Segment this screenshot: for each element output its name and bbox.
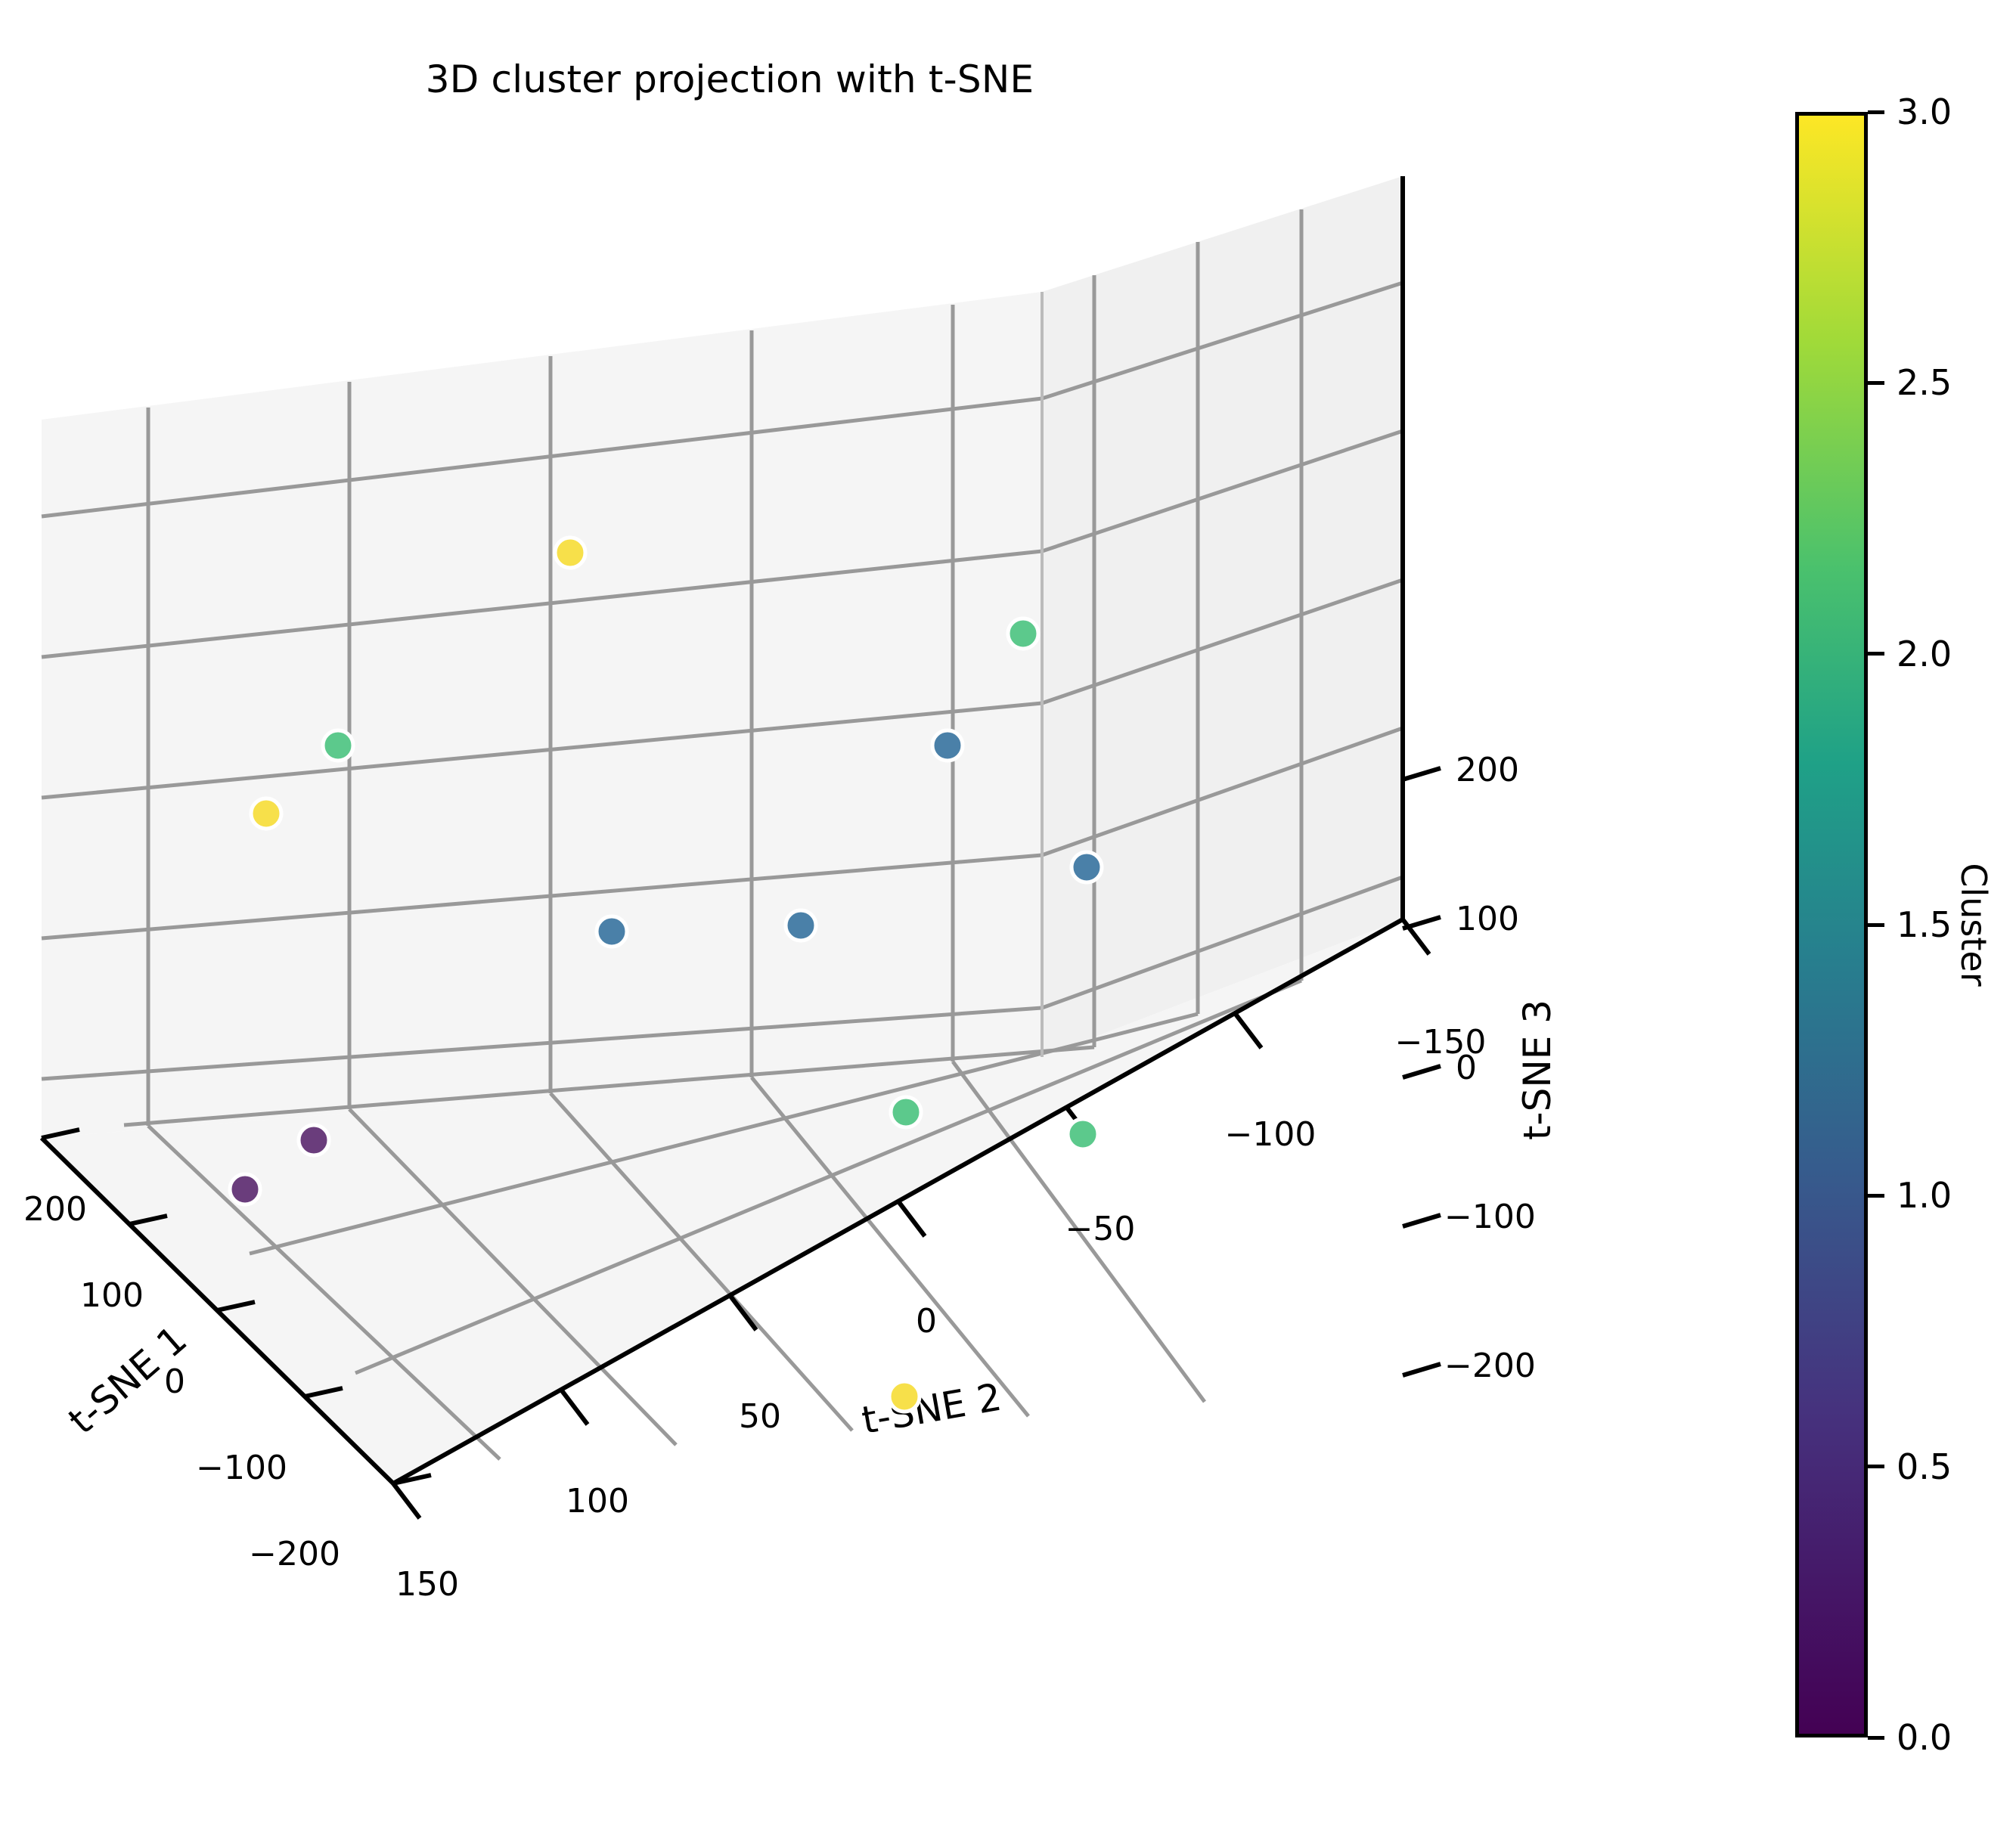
ytick-label: 0 [916,1302,937,1341]
scatter-point [555,538,585,568]
ztick-label: 0 [1456,1049,1477,1087]
colorbar-tick [1868,1194,1884,1198]
scatter-point [597,916,627,947]
colorbar-tick-label: 2.5 [1897,362,1952,403]
pane-back-right [1042,176,1403,1057]
scatter-point [251,798,281,829]
axis-label-z: t-SNE 3 [1515,1000,1559,1140]
colorbar-tick [1868,923,1884,927]
colorbar-tick [1868,1736,1884,1740]
xtick-label: −100 [196,1449,287,1487]
ztick-label: 200 [1456,751,1519,789]
pane-back-left [42,292,1042,1138]
ztick-label: −200 [1444,1347,1536,1385]
ytick-label: −100 [1225,1115,1317,1154]
ztick-label: 100 [1456,900,1519,938]
axis-label-y: t-SNE 2 [858,1375,1004,1443]
axis-ticks-z [1403,768,1441,1375]
colorbar-tick-label: 1.5 [1897,904,1952,945]
colorbar-tick [1868,1465,1884,1468]
ytick-label: 50 [739,1397,781,1436]
colorbar-tick-label: 2.0 [1897,634,1952,674]
colorbar: 3.02.52.01.51.00.50.0 Cluster [1795,112,2016,1737]
ytick-label: 150 [395,1565,459,1604]
colorbar-gradient [1795,112,1868,1737]
colorbar-tick [1868,652,1884,656]
scatter-point [1068,1119,1098,1149]
colorbar-tick-label: 3.0 [1897,91,1952,132]
ytick-label: −50 [1065,1210,1136,1248]
colorbar-tick-label: 0.0 [1897,1717,1952,1758]
colorbar-label: Cluster [1953,863,1994,986]
scatter-point [889,1381,920,1412]
colorbar-tick [1868,110,1884,114]
colorbar-tick-label: 1.0 [1897,1175,1952,1216]
scatter-point [1008,618,1038,649]
colorbar-tick-label: 0.5 [1897,1446,1952,1487]
scatter3d-plot: 200 100 0 −100 −200 t-SNE 1 150 100 50 0… [0,0,1739,1832]
scatter-point [932,730,963,761]
scatter-point [1072,852,1102,882]
ztick-label: −100 [1444,1198,1536,1236]
scatter-point [786,910,816,941]
scatter-point [323,730,353,761]
xtick-label: 100 [80,1276,144,1315]
xtick-label: 200 [23,1190,87,1229]
scatter-point [299,1125,329,1155]
scatter-point [891,1097,921,1127]
colorbar-tick [1868,381,1884,385]
xtick-label: −200 [249,1535,340,1573]
scatter-point [230,1174,260,1204]
ytick-label: 100 [566,1482,629,1520]
